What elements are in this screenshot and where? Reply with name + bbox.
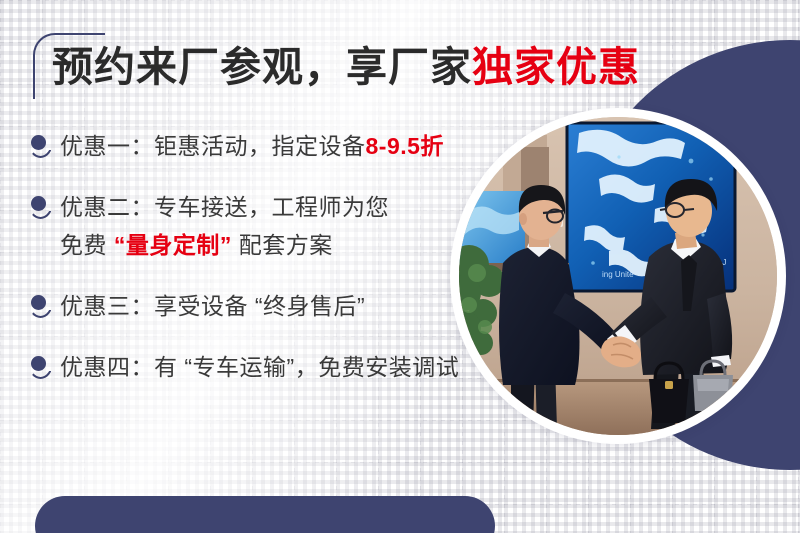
page-title: 预约来厂参观，享厂家独家优惠 [52,45,640,90]
list-item: 优惠三：享受设备 “终身售后” [28,288,498,325]
offer-1-highlight: 8-9.5折 [366,133,444,159]
bullet-dot-icon [28,133,50,161]
handshake-photo-illustration: ing Unite ted J [459,117,777,435]
list-item: 优惠一：钜惠活动，指定设备8-9.5折 [28,128,498,165]
bullet-dot-icon [28,354,50,382]
bottom-navy-bar [35,496,495,533]
offer-1-plain: 优惠一：钜惠活动，指定设备 [60,133,366,159]
offer-2-line1-plain: 优惠二：专车接送，工程师为您 [60,194,389,220]
promo-poster: 预约来厂参观，享厂家独家优惠 优惠一：钜惠活动，指定设备8-9.5折 优惠二：专… [0,0,800,533]
screen-caption-left: ing Unite [602,270,634,279]
photo-ring: ing Unite ted J [450,108,786,444]
offer-1-text: 优惠一：钜惠活动，指定设备8-9.5折 [60,128,444,165]
offer-2-line2-plain: 免费 [60,232,114,258]
offer-2-highlight: “量身定制” [114,232,232,258]
offer-2-text: 优惠二：专车接送，工程师为您 免费 “量身定制” 配套方案 [60,189,389,264]
handshake-photo: ing Unite ted J [459,117,777,435]
list-item: 优惠二：专车接送，工程师为您 免费 “量身定制” 配套方案 [28,189,498,264]
title-plain-text: 预约来厂参观，享厂家 [52,44,472,90]
bullet-dot-icon [28,293,50,321]
offer-list: 优惠一：钜惠活动，指定设备8-9.5折 优惠二：专车接送，工程师为您 免费 “量… [28,128,498,410]
offer-3-plain: 优惠三：享受设备 “终身售后” [60,293,365,319]
offer-2-line2-tail: 配套方案 [232,232,333,258]
bullet-dot-icon [28,194,50,222]
offer-4-plain: 优惠四：有 “专车运输”，免费安装调试 [60,354,459,380]
offer-3-text: 优惠三：享受设备 “终身售后” [60,288,365,325]
list-item: 优惠四：有 “专车运输”，免费安装调试 [28,349,498,386]
title-highlight-text: 独家优惠 [472,44,640,90]
offer-4-text: 优惠四：有 “专车运输”，免费安装调试 [60,349,459,386]
